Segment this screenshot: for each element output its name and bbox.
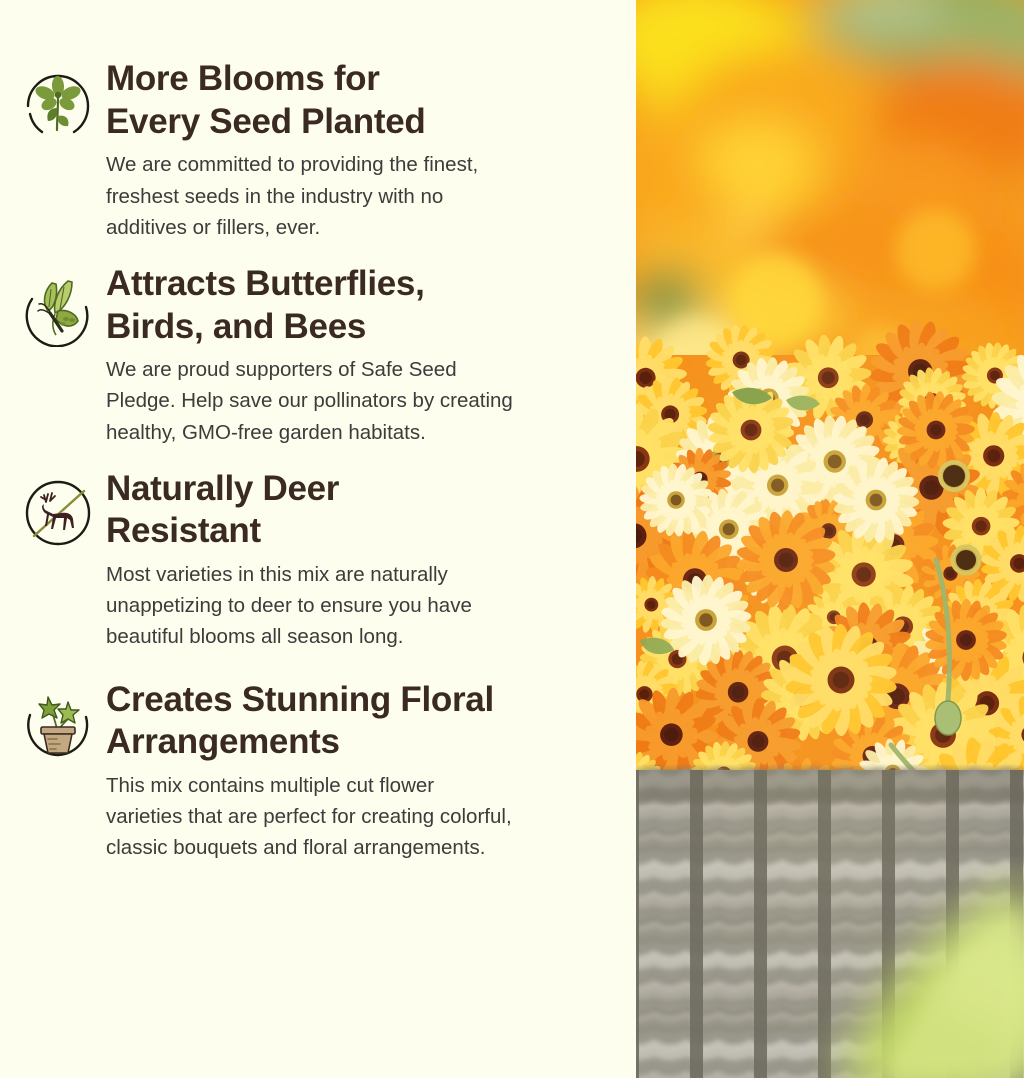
feature-icon-container [10, 679, 106, 763]
photo-canvas [636, 0, 1024, 1078]
potted-plant-icon [22, 685, 94, 763]
feature-item: Attracts Butterflies, Birds, and Bees We… [10, 263, 616, 448]
feature-description: We are proud supporters of Safe Seed Ple… [106, 354, 608, 447]
feature-icon-container [10, 468, 106, 552]
promo-feature-page: More Blooms for Every Seed Planted We ar… [0, 0, 1024, 1078]
feature-item: Creates Stunning Floral Arrangements Thi… [10, 679, 616, 864]
feature-text: Creates Stunning Floral Arrangements Thi… [106, 679, 616, 864]
feature-description: Most varieties in this mix are naturally… [106, 559, 608, 652]
feature-text: Naturally Deer Resistant Most varieties … [106, 468, 616, 653]
feature-item: Naturally Deer Resistant Most varieties … [10, 468, 616, 653]
butterfly-icon [22, 269, 94, 347]
feature-title: Creates Stunning Floral Arrangements [106, 679, 608, 764]
feature-description: We are committed to providing the finest… [106, 149, 608, 242]
feature-text: More Blooms for Every Seed Planted We ar… [106, 58, 616, 243]
feature-title: Naturally Deer Resistant [106, 468, 608, 553]
feature-list-panel: More Blooms for Every Seed Planted We ar… [0, 0, 636, 1078]
feature-title: More Blooms for Every Seed Planted [106, 58, 608, 143]
feature-item: More Blooms for Every Seed Planted We ar… [10, 58, 616, 243]
no-deer-icon [22, 474, 94, 552]
sprout-flower-icon [22, 64, 94, 142]
calendula-basket-photo [636, 0, 1024, 1078]
feature-title: Attracts Butterflies, Birds, and Bees [106, 263, 608, 348]
feature-text: Attracts Butterflies, Birds, and Bees We… [106, 263, 616, 448]
feature-description: This mix contains multiple cut flower va… [106, 770, 608, 863]
feature-icon-container [10, 263, 106, 347]
feature-icon-container [10, 58, 106, 142]
